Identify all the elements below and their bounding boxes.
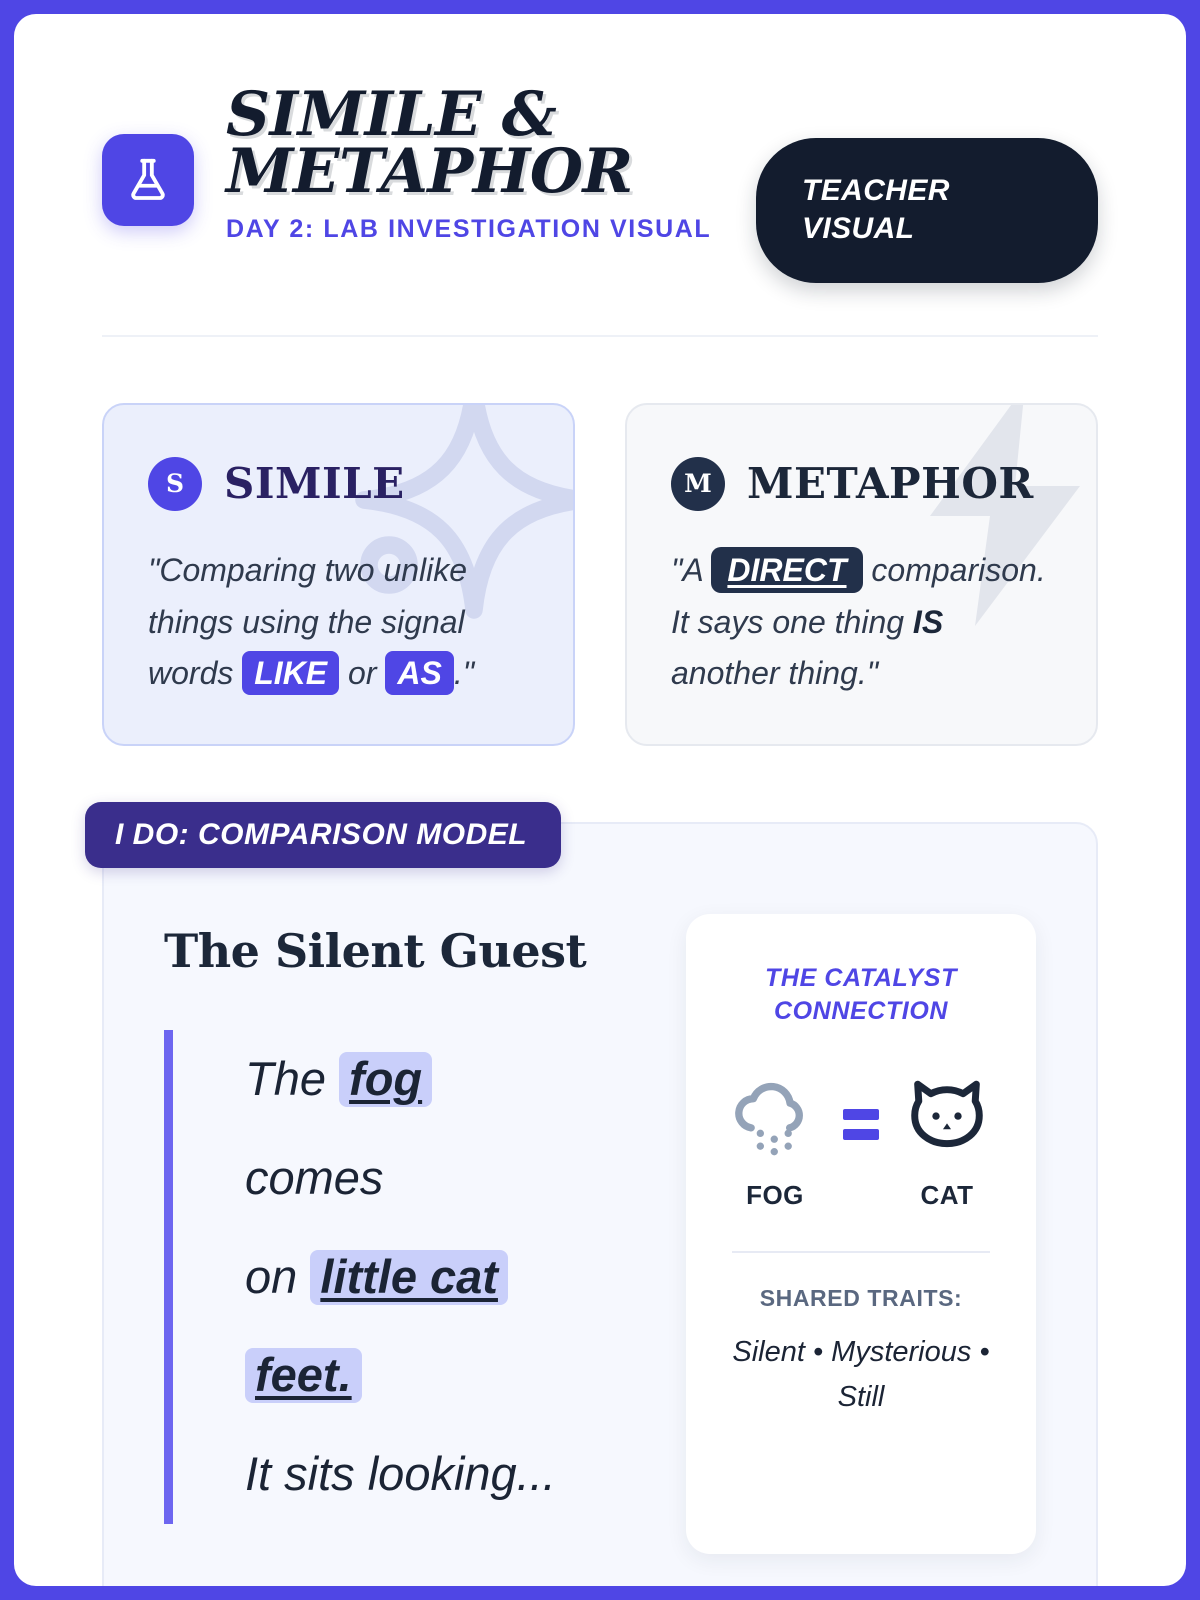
catalyst-divider	[732, 1251, 990, 1253]
metaphor-text-before: "A	[671, 552, 711, 588]
poem-line2: comes	[245, 1151, 383, 1204]
chip-as: AS	[385, 651, 453, 695]
cat-item: CAT	[892, 1071, 1002, 1211]
cat-label: CAT	[892, 1180, 1002, 1211]
purple-page-frame: SIMILE & METAPHOR DAY 2: LAB INVESTIGATI…	[0, 0, 1200, 1600]
highlight-little-cat: little cat	[310, 1250, 508, 1305]
metaphor-definition-text: "A DIRECT comparison. It says one thing …	[671, 545, 1052, 700]
simile-card: S SIMILE "Comparing two unlike things us…	[102, 403, 575, 746]
simile-text-after: ."	[454, 655, 474, 691]
i-do-banner: I DO: COMPARISON MODEL	[85, 802, 561, 868]
metaphor-text-after: another thing."	[671, 655, 878, 691]
simile-badge-letter: S	[148, 457, 202, 511]
highlight-fog: fog	[339, 1052, 432, 1107]
highlight-feet: feet.	[245, 1348, 362, 1403]
fog-item: FOG	[720, 1071, 830, 1211]
page-title: SIMILE & METAPHOR	[226, 86, 696, 201]
emphasis-is: IS	[913, 604, 943, 640]
page-subtitle: DAY 2: LAB INVESTIGATION VISUAL	[226, 215, 716, 245]
cat-face-icon	[901, 1071, 993, 1159]
catalyst-title: THE CATALYST CONNECTION	[720, 962, 1002, 1027]
definition-cards-row: S SIMILE "Comparing two unlike things us…	[102, 403, 1098, 746]
poem-title: The Silent Guest	[164, 924, 628, 978]
catalyst-connection-panel: THE CATALYST CONNECTION FOG	[686, 914, 1036, 1554]
poem-line3-plain: on	[245, 1250, 310, 1303]
chip-direct: DIRECT	[711, 547, 862, 593]
poem-quote: The fog comes on little cat feet. It sit…	[164, 1030, 628, 1523]
i-do-body: The Silent Guest The fog comes on little…	[164, 924, 1036, 1554]
equals-icon	[843, 1109, 879, 1140]
simile-card-header: S SIMILE	[148, 457, 529, 511]
metaphor-title: METAPHOR	[747, 459, 1034, 508]
simile-text-middle: or	[339, 655, 385, 691]
teacher-visual-badge: TEACHER VISUAL	[756, 138, 1098, 283]
fog-label: FOG	[720, 1180, 830, 1211]
worksheet-sheet: SIMILE & METAPHOR DAY 2: LAB INVESTIGATI…	[14, 14, 1186, 1586]
i-do-card: I DO: COMPARISON MODEL The Silent Guest …	[102, 822, 1098, 1586]
poem-column: The Silent Guest The fog comes on little…	[164, 924, 628, 1554]
poem-line1-plain: The	[245, 1052, 339, 1105]
title-block: SIMILE & METAPHOR DAY 2: LAB INVESTIGATI…	[226, 86, 756, 244]
metaphor-card-header: M METAPHOR	[671, 457, 1052, 511]
metaphor-badge-letter: M	[671, 457, 725, 511]
cloud-drizzle-icon	[729, 1071, 821, 1159]
page-header: SIMILE & METAPHOR DAY 2: LAB INVESTIGATI…	[102, 14, 1098, 283]
shared-traits-list: Silent • Mysterious • Still	[720, 1330, 1002, 1420]
header-divider	[102, 335, 1098, 337]
simile-definition-text: "Comparing two unlike things using the s…	[148, 545, 529, 700]
i-do-section: I DO: COMPARISON MODEL The Silent Guest …	[102, 822, 1098, 1586]
poem-line5: It sits looking...	[245, 1447, 556, 1500]
simile-title: SIMILE	[224, 459, 405, 508]
metaphor-card: M METAPHOR "A DIRECT comparison. It says…	[625, 403, 1098, 746]
comparison-row: FOG	[720, 1071, 1002, 1211]
shared-traits-label: SHARED TRAITS:	[720, 1285, 1002, 1312]
flask-icon	[102, 134, 194, 226]
chip-like: LIKE	[242, 651, 339, 695]
